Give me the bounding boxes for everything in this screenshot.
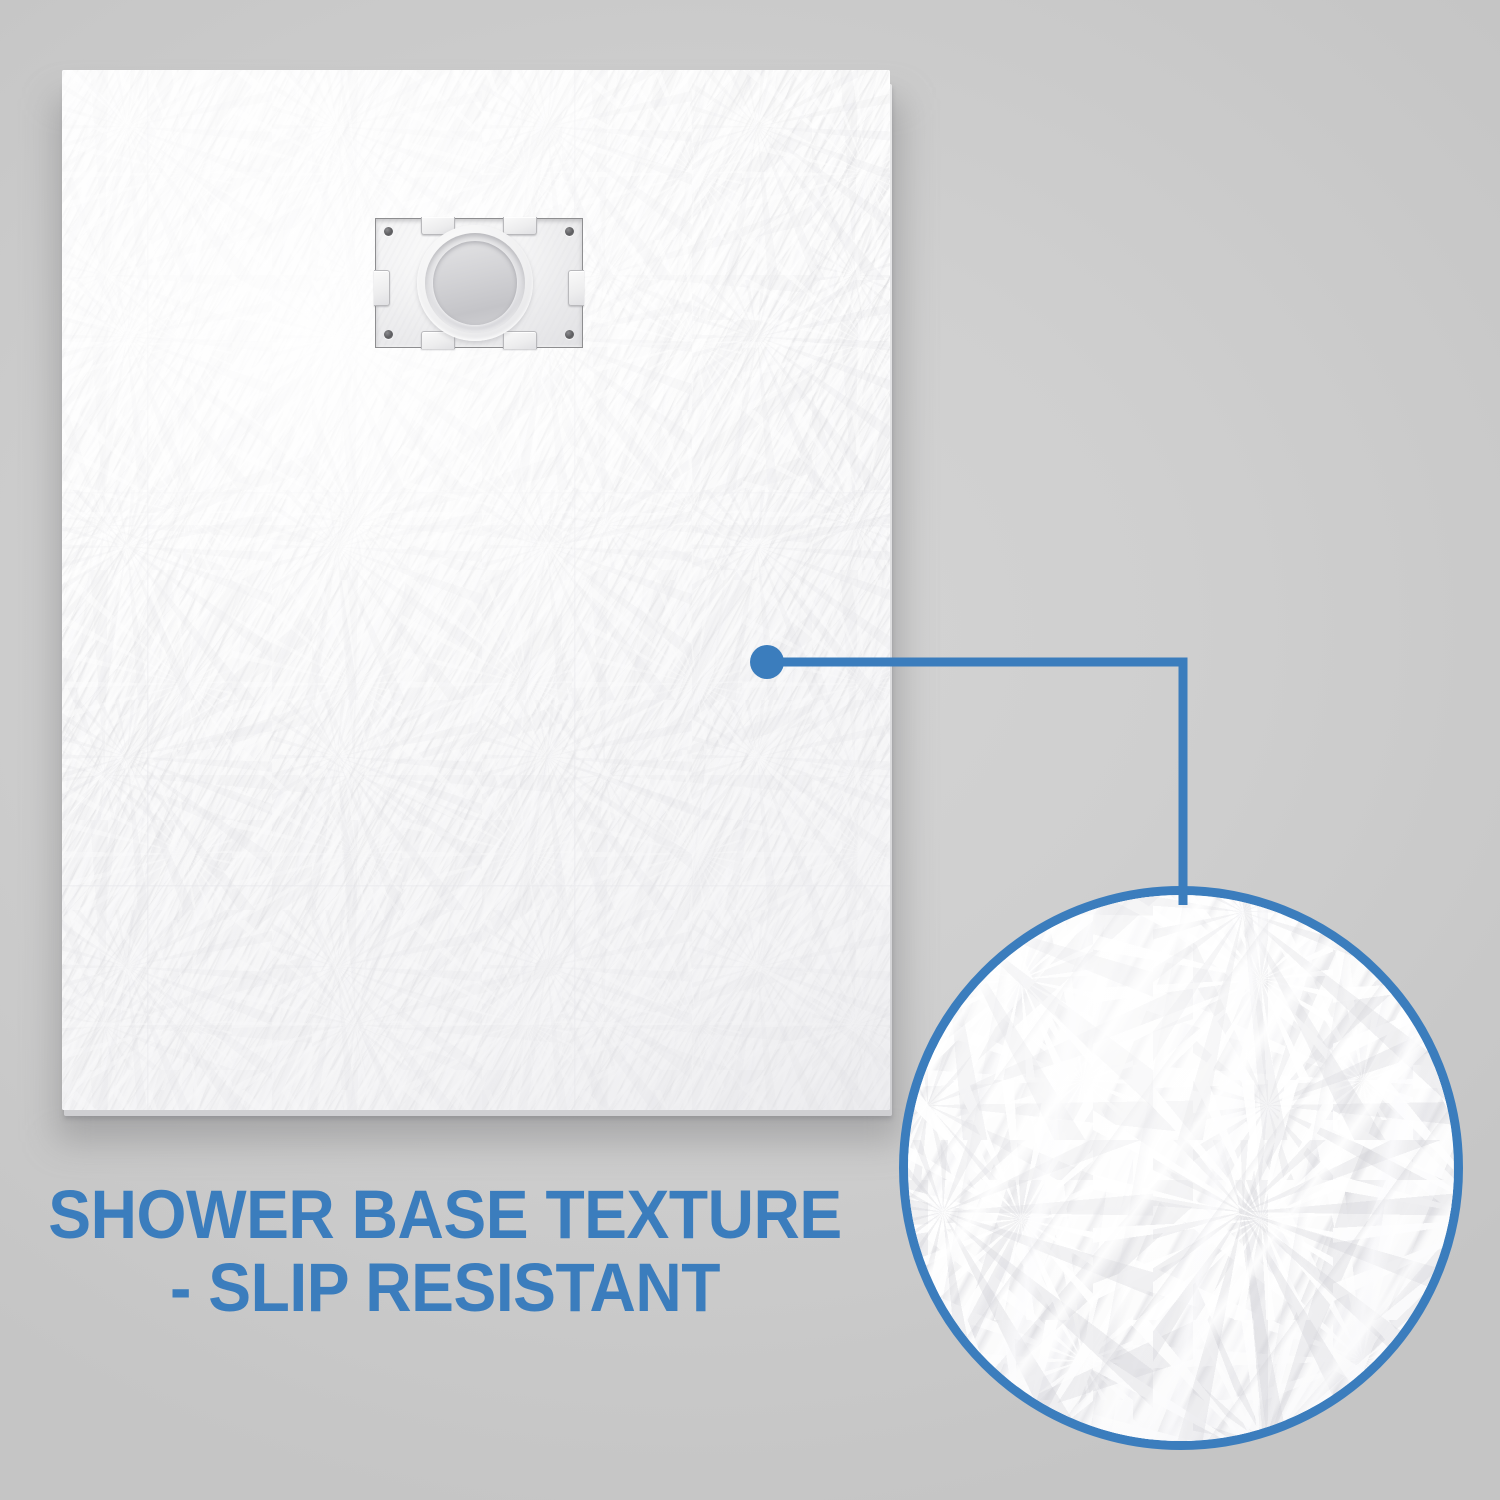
- drain-screw-top-right: [565, 227, 574, 236]
- drain-assembly: [375, 218, 583, 348]
- drain-screw-bottom-right: [565, 330, 574, 339]
- drain-screw-bottom-left: [384, 330, 393, 339]
- texture-magnifier-circle: [899, 886, 1463, 1450]
- drain-cover: [433, 241, 517, 325]
- drain-tab-right: [568, 270, 584, 306]
- caption-line-2: - SLIP RESISTANT: [31, 1251, 859, 1324]
- drain-tab-top-right: [503, 217, 537, 235]
- tray-top-surface: [62, 70, 890, 1110]
- caption-line-1: SHOWER BASE TEXTURE: [31, 1178, 859, 1251]
- drain-tab-bottom-right: [503, 331, 537, 349]
- drain-screw-top-left: [384, 227, 393, 236]
- product-image-canvas: SHOWER BASE TEXTURE - SLIP RESISTANT: [0, 0, 1500, 1500]
- shower-tray: [62, 70, 891, 1122]
- magnified-lighting: [899, 886, 1463, 1450]
- drain-tab-left: [374, 270, 390, 306]
- caption-block: SHOWER BASE TEXTURE - SLIP RESISTANT: [31, 1178, 859, 1324]
